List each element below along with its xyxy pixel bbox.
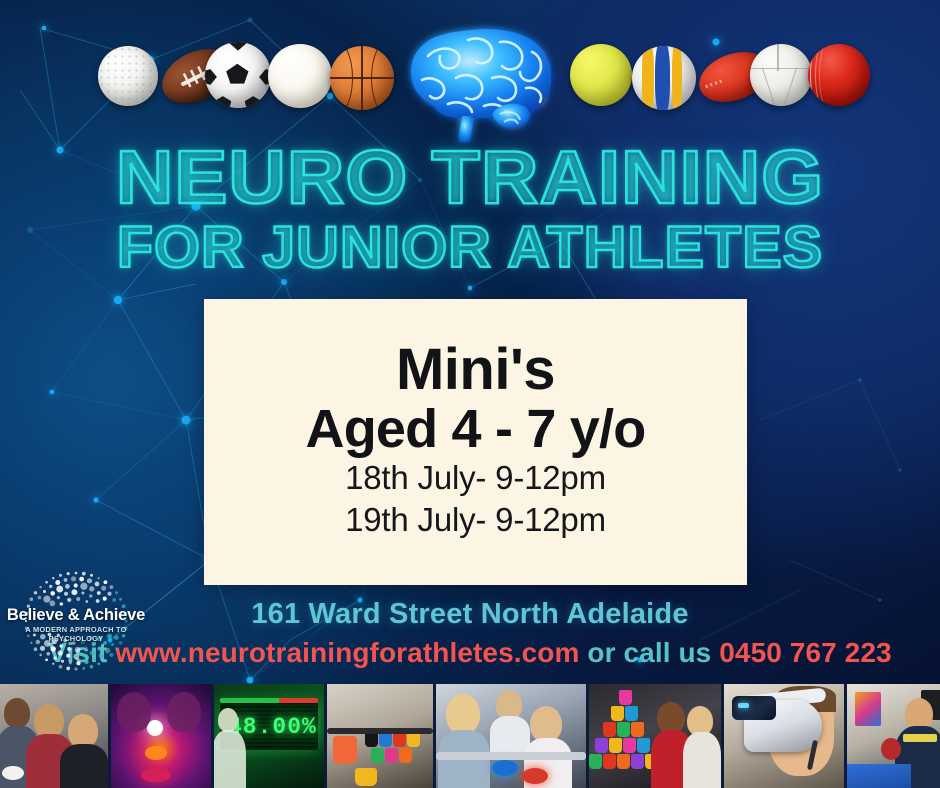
volleyball-icon	[632, 46, 696, 110]
baseball-icon	[268, 44, 332, 108]
logo-name: Believe & Achieve	[4, 606, 148, 625]
card-age-range: Aged 4 - 7 y/o	[306, 401, 646, 457]
soccer-ball-icon	[205, 42, 271, 108]
photo-kids-seated	[0, 684, 108, 788]
photo-reaction-lights	[111, 684, 211, 788]
card-session-date-2: 19th July- 9-12pm	[345, 499, 606, 541]
sports-balls-row	[0, 26, 940, 130]
headline-secondary: FOR JUNIOR ATHLETES	[0, 219, 940, 277]
phone-number[interactable]: 0450 767 223	[719, 637, 891, 668]
logo-tagline: A MODERN APPROACH TO PSYCHOLOGY	[4, 625, 148, 643]
brain-icon	[404, 22, 568, 146]
believe-achieve-logo: Believe & Achieve A MODERN APPROACH TO P…	[4, 560, 148, 682]
photo-strip: 48.00%	[0, 684, 940, 788]
call-label: or call us	[580, 637, 720, 668]
info-card: Mini's Aged 4 - 7 y/o 18th July- 9-12pm …	[204, 299, 747, 585]
poster-root: NEURO TRAINING FOR JUNIOR ATHLETES Mini'…	[0, 0, 940, 788]
tennis-ball-icon	[570, 44, 632, 106]
photo-cup-pyramid	[589, 684, 721, 788]
photo-cup-stacking-table	[327, 684, 433, 788]
basketball-icon	[330, 46, 394, 110]
golf-ball-icon	[98, 46, 158, 106]
photo-kids-reaction-pods	[436, 684, 586, 788]
headline-block: NEURO TRAINING FOR JUNIOR ATHLETES	[0, 140, 940, 277]
photo-led-scoreboard: 48.00%	[214, 684, 324, 788]
cricket-ball-icon	[808, 44, 870, 106]
card-session-date-1: 18th July- 9-12pm	[345, 457, 606, 499]
website-link[interactable]: www.neurotrainingforathletes.com	[115, 637, 579, 668]
netball-icon	[750, 44, 812, 106]
headline-primary: NEURO TRAINING	[0, 140, 940, 215]
card-title: Mini's	[396, 340, 555, 399]
photo-vr-headset	[724, 684, 844, 788]
photo-table-tennis	[847, 684, 940, 788]
